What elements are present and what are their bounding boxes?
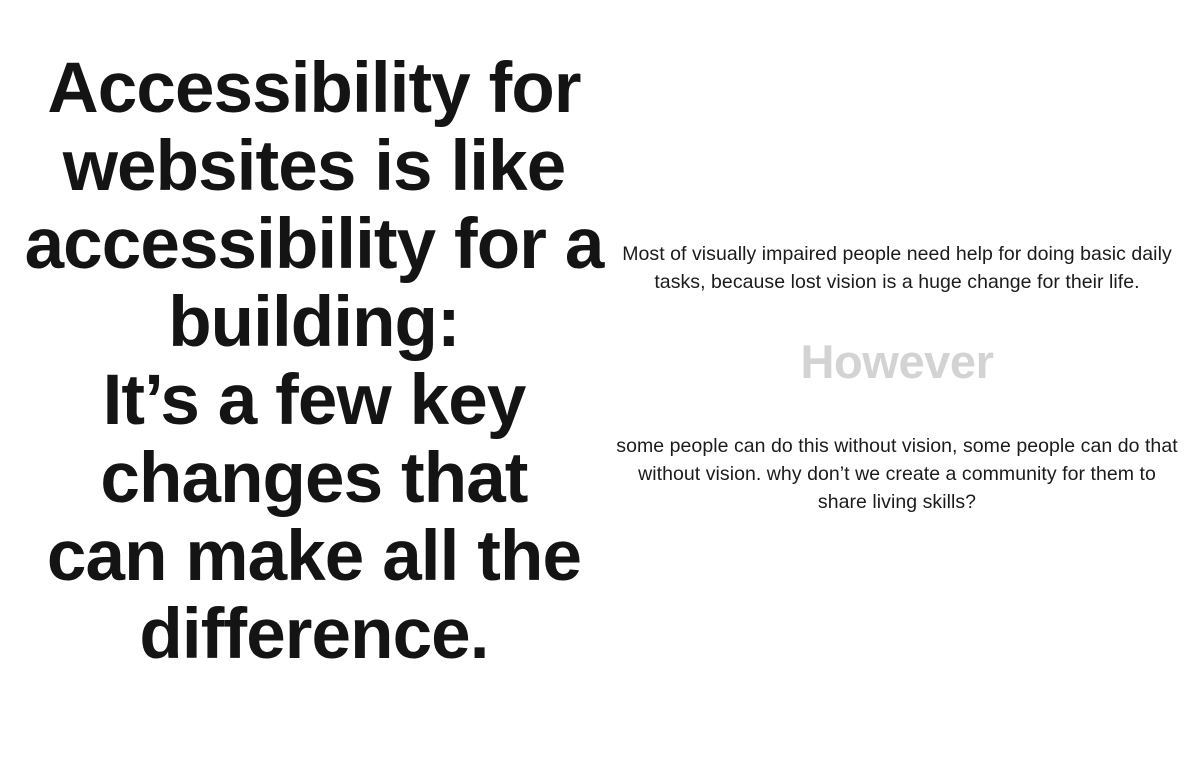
transition-word-however: However [612,296,1182,390]
slide-canvas: Accessibility for websites is like acces… [0,0,1200,776]
intro-paragraph: Most of visually impaired people need he… [612,240,1182,296]
page-title: Accessibility for websites is like acces… [14,50,614,674]
body-column: Most of visually impaired people need he… [612,240,1182,516]
outro-paragraph: some people can do this without vision, … [612,390,1182,516]
headline-column: Accessibility for websites is like acces… [14,50,614,674]
